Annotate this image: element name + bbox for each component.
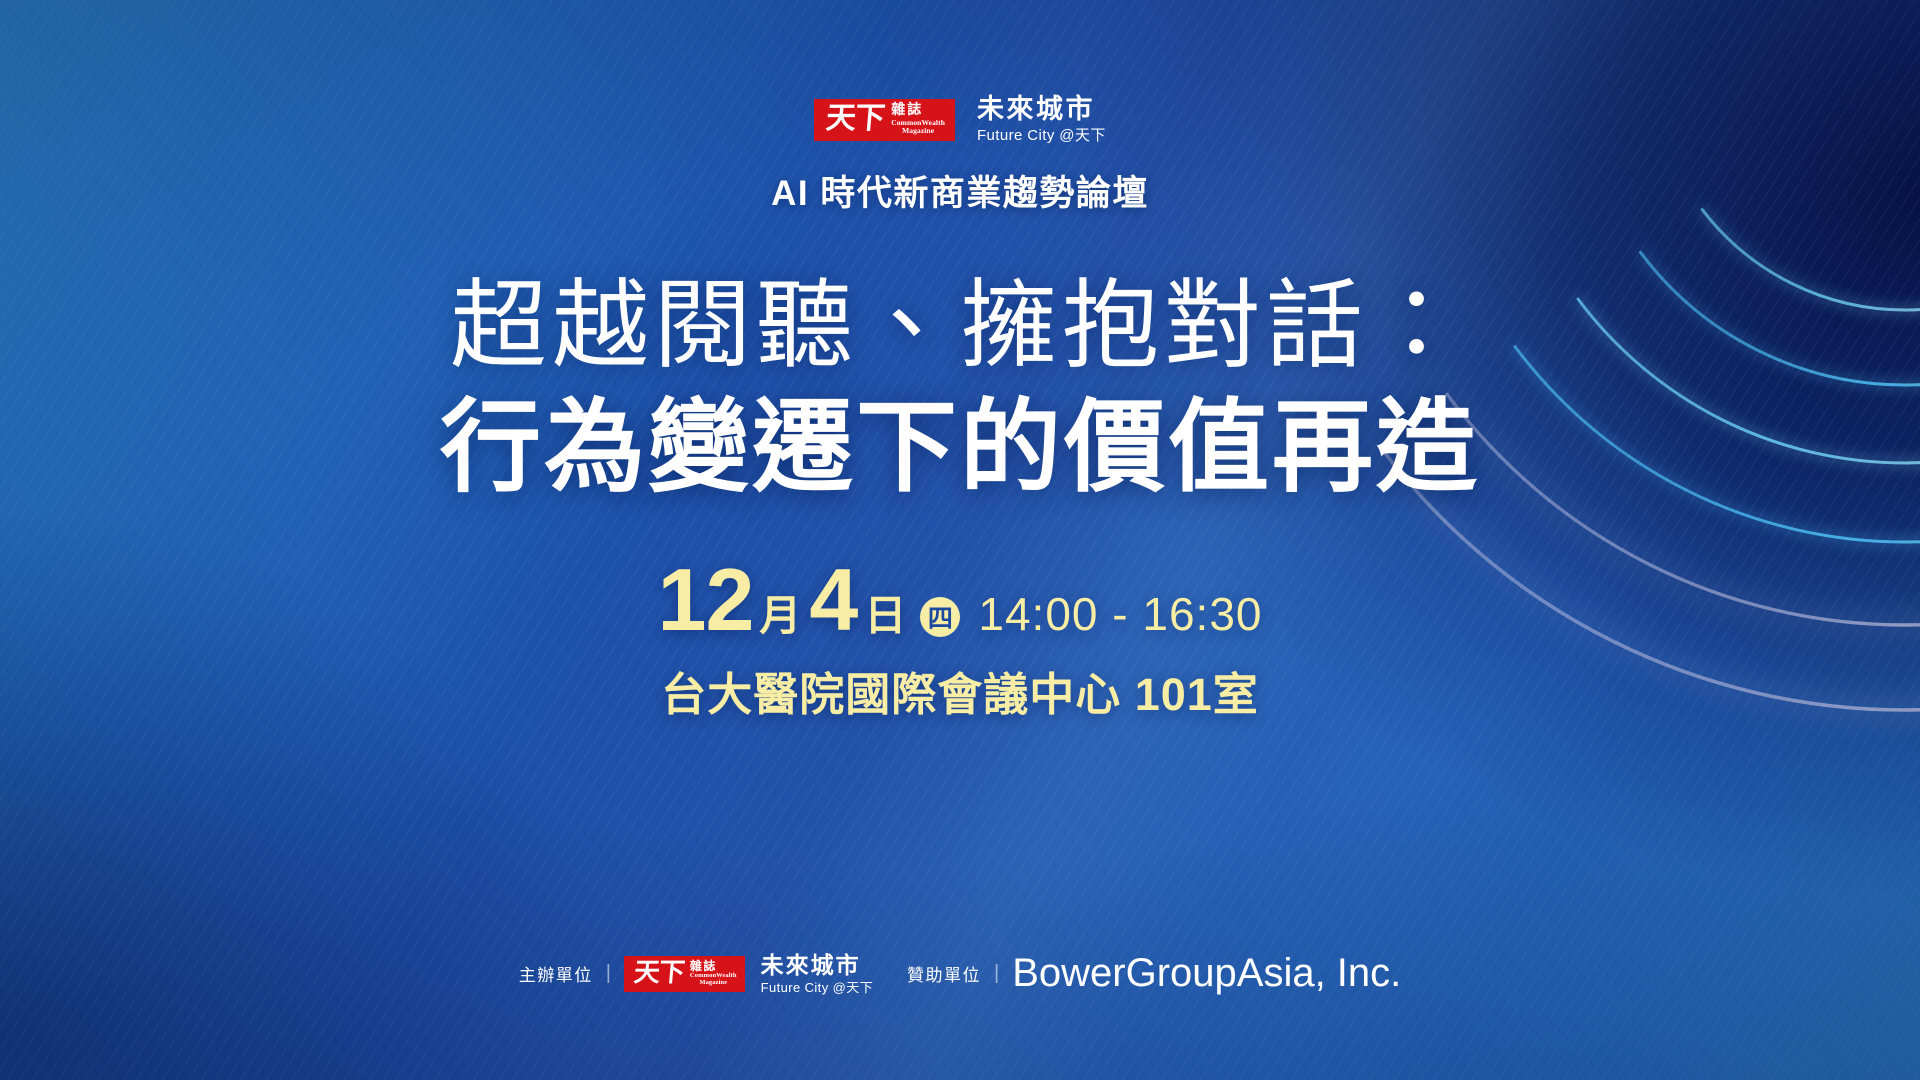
event-time-range: 14:00 - 16:30 [978,591,1262,637]
footer-commonwealth-magazine-logo: 天下 雜誌 CommonWealth Magazine [624,956,745,992]
commonwealth-logo-mark: 天下 [825,104,886,134]
main-title-line-1: 超越閱聽、擁抱對話： [440,270,1480,383]
event-month-number: 12 [658,556,754,644]
footer-commonwealth-logo-en-line2: Magazine [690,980,737,987]
event-weekday-badge: 四 [920,597,960,637]
event-datetime: 12 月 4 日 四 14:00 - 16:30 [658,556,1263,644]
event-month-unit: 月 [759,595,801,637]
future-city-logo: 未來城市 Future City @天下 [977,96,1106,143]
main-title-line-2: 行為變遷下的價值再造 [440,389,1480,508]
main-title: 超越閱聽、擁抱對話： 行為變遷下的價值再造 [440,270,1480,508]
future-city-logo-en: Future City @天下 [977,128,1106,143]
poster-footer: 主辦單位 | 天下 雜誌 CommonWealth Magazine 未來城市 … [0,951,1920,996]
footer-organizer-logo-lockup: 天下 雜誌 CommonWealth Magazine 未來城市 Future … [624,954,873,994]
event-venue: 台大醫院國際會議中心 101室 [661,658,1259,723]
poster-content: 天下 雜誌 CommonWealth Magazine 未來城市 Future … [0,0,1920,1080]
organizer-label: 主辦單位 [519,961,593,986]
header-logo-lockup: 天下 雜誌 CommonWealth Magazine 未來城市 Future … [814,96,1105,143]
event-day-unit: 日 [864,595,906,637]
sponsor-label: 贊助單位 [907,961,981,986]
footer-commonwealth-logo-zh: 雜誌 [690,960,737,972]
footer-future-city-logo-zh: 未來城市 [761,954,873,977]
event-subtitle: AI 時代新商業趨勢論壇 [771,165,1149,216]
commonwealth-logo-en-line1: CommonWealth [891,119,945,127]
future-city-logo-zh: 未來城市 [977,96,1106,123]
sponsor-name: BowerGroupAsia, Inc. [1012,951,1401,996]
footer-commonwealth-logo-text: 雜誌 CommonWealth Magazine [690,960,737,987]
footer-future-city-logo: 未來城市 Future City @天下 [761,954,873,994]
commonwealth-logo-text: 雜誌 CommonWealth Magazine [891,104,945,135]
commonwealth-logo-en-line2: Magazine [891,127,945,135]
event-poster: 天下 雜誌 CommonWealth Magazine 未來城市 Future … [0,0,1920,1080]
commonwealth-logo-zh: 雜誌 [891,104,945,118]
organizer-divider: | [606,962,611,985]
event-day-number: 4 [809,556,858,644]
footer-commonwealth-logo-mark: 天下 [633,960,685,986]
footer-future-city-logo-en: Future City @天下 [761,981,873,994]
commonwealth-magazine-logo: 天下 雜誌 CommonWealth Magazine [814,99,955,141]
sponsor-divider: | [994,962,999,985]
